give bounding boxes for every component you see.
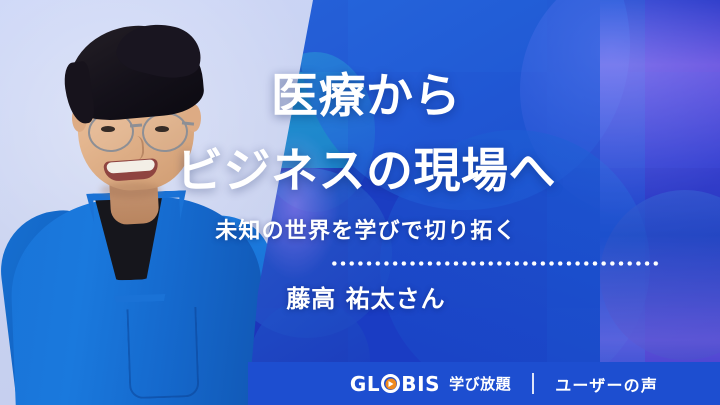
globis-logo: GL BIS (350, 372, 440, 396)
purple-glow-right (600, 0, 720, 405)
title-line-2: ビジネスの現場へ (6, 144, 720, 200)
globis-logo-post: BIS (401, 372, 440, 396)
title-line-1: 医療から (6, 69, 720, 125)
brand-suffix-label: 学び放題 (449, 373, 511, 394)
globis-logo-pre: GL (350, 372, 380, 396)
play-button-icon (381, 374, 400, 393)
banner-image: 医療から ビジネスの現場へ 未知の世界を学びで切り拓く 藤高 祐太さん GL B… (0, 0, 720, 405)
section-label: ユーザーの声 (555, 372, 658, 396)
footer-brand-bar: GL BIS 学び放題 ユーザーの声 (248, 362, 720, 405)
speaker-name: 藤高 祐太さん (6, 279, 720, 314)
dotted-divider (330, 261, 662, 266)
subtitle-text: 未知の世界を学びで切り拓く (6, 213, 720, 245)
vertical-separator (532, 373, 534, 394)
brand-lockup: GL BIS 学び放題 ユーザーの声 (350, 372, 658, 396)
scrubs-pocket (126, 307, 199, 399)
